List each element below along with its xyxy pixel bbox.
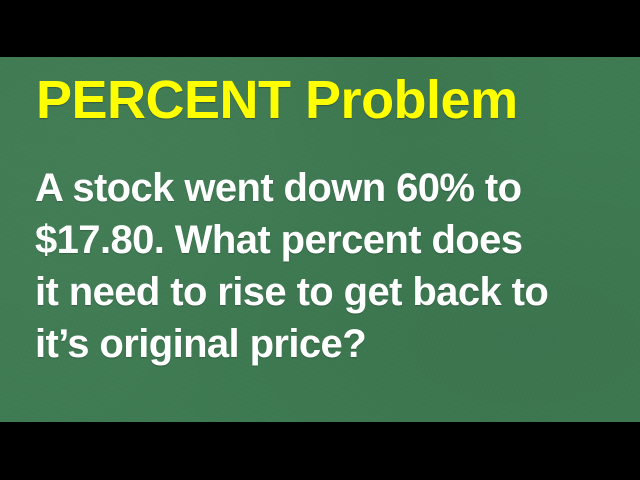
slide-content: PERCENT Problem A stock went down 60% to… xyxy=(0,57,640,422)
slide-title: PERCENT Problem xyxy=(36,70,616,130)
question-line: $17.80. What percent does xyxy=(35,214,625,266)
chalkboard-background: PERCENT Problem A stock went down 60% to… xyxy=(0,57,640,422)
question-line: A stock went down 60% to xyxy=(35,162,625,214)
letterbox-bar-bottom xyxy=(0,422,640,480)
letterbox-bar-top xyxy=(0,0,640,57)
question-text-block: A stock went down 60% to $17.80. What pe… xyxy=(35,162,625,370)
question-line: it need to rise to get back to xyxy=(35,266,625,318)
question-line: it’s original price? xyxy=(35,318,625,370)
video-slide: PERCENT Problem A stock went down 60% to… xyxy=(0,0,640,480)
